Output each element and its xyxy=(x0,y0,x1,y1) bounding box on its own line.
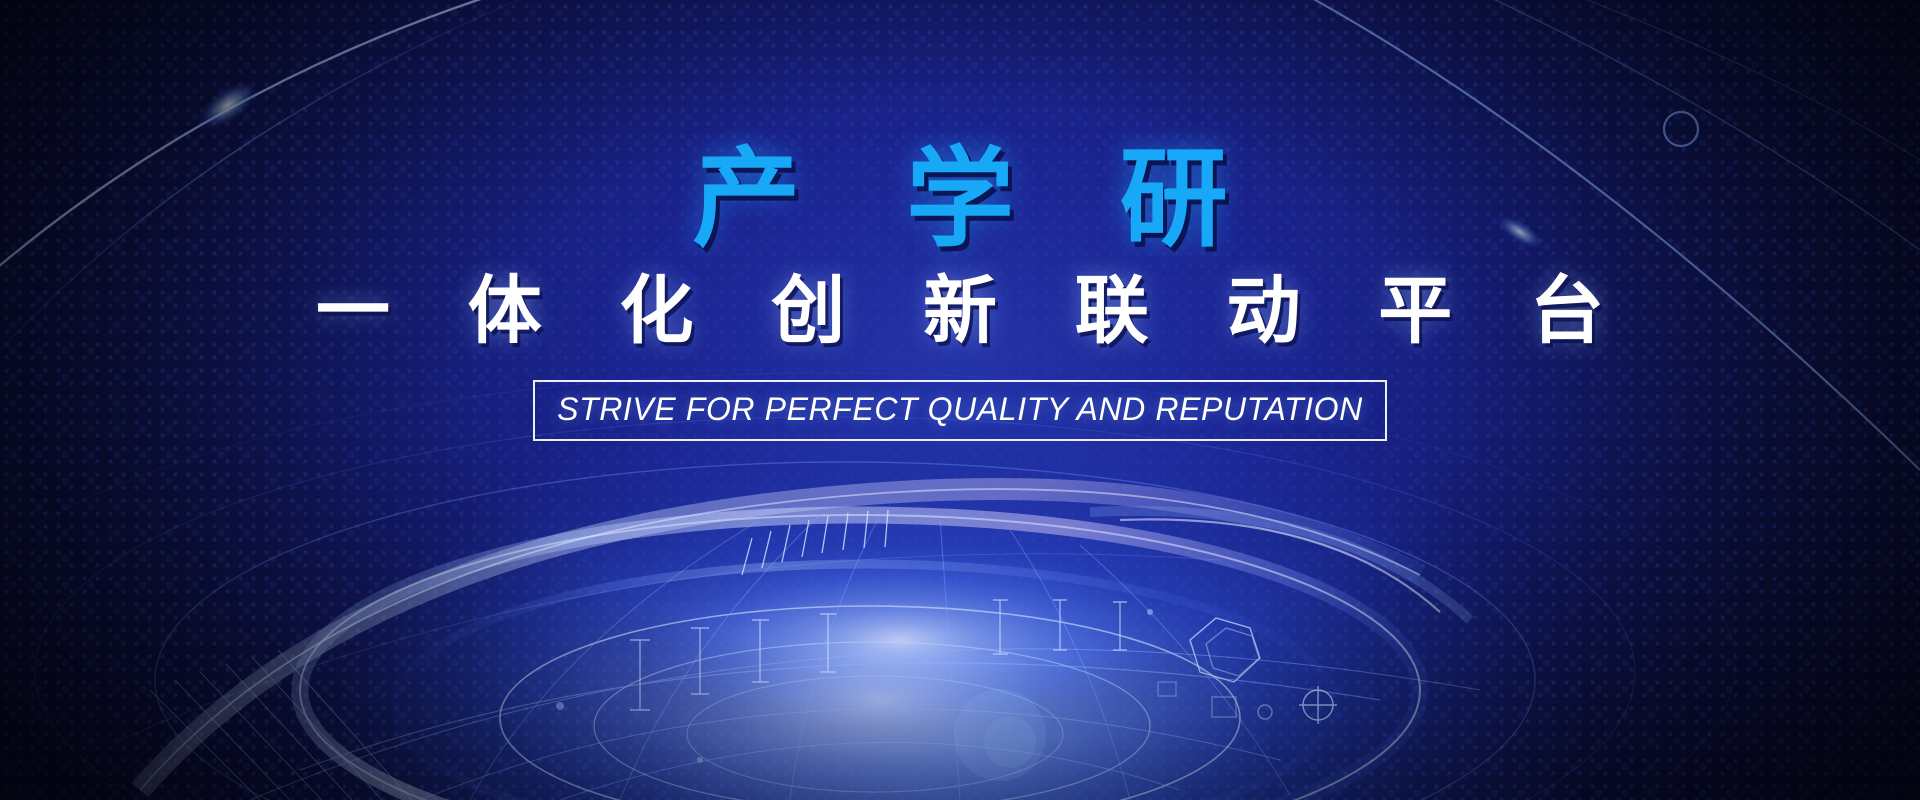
banner-title-secondary: 一 体 化 创 新 联 动 平 台 xyxy=(0,271,1920,352)
hero-banner: 产 学 研 一 体 化 创 新 联 动 平 台 STRIVE FOR PERFE… xyxy=(0,0,1920,800)
banner-subtitle-wrap: STRIVE FOR PERFECT QUALITY AND REPUTATIO… xyxy=(0,380,1920,441)
banner-subtitle: STRIVE FOR PERFECT QUALITY AND REPUTATIO… xyxy=(533,380,1387,441)
banner-title-primary: 产 学 研 xyxy=(0,140,1920,261)
banner-content: 产 学 研 一 体 化 创 新 联 动 平 台 STRIVE FOR PERFE… xyxy=(0,0,1920,441)
